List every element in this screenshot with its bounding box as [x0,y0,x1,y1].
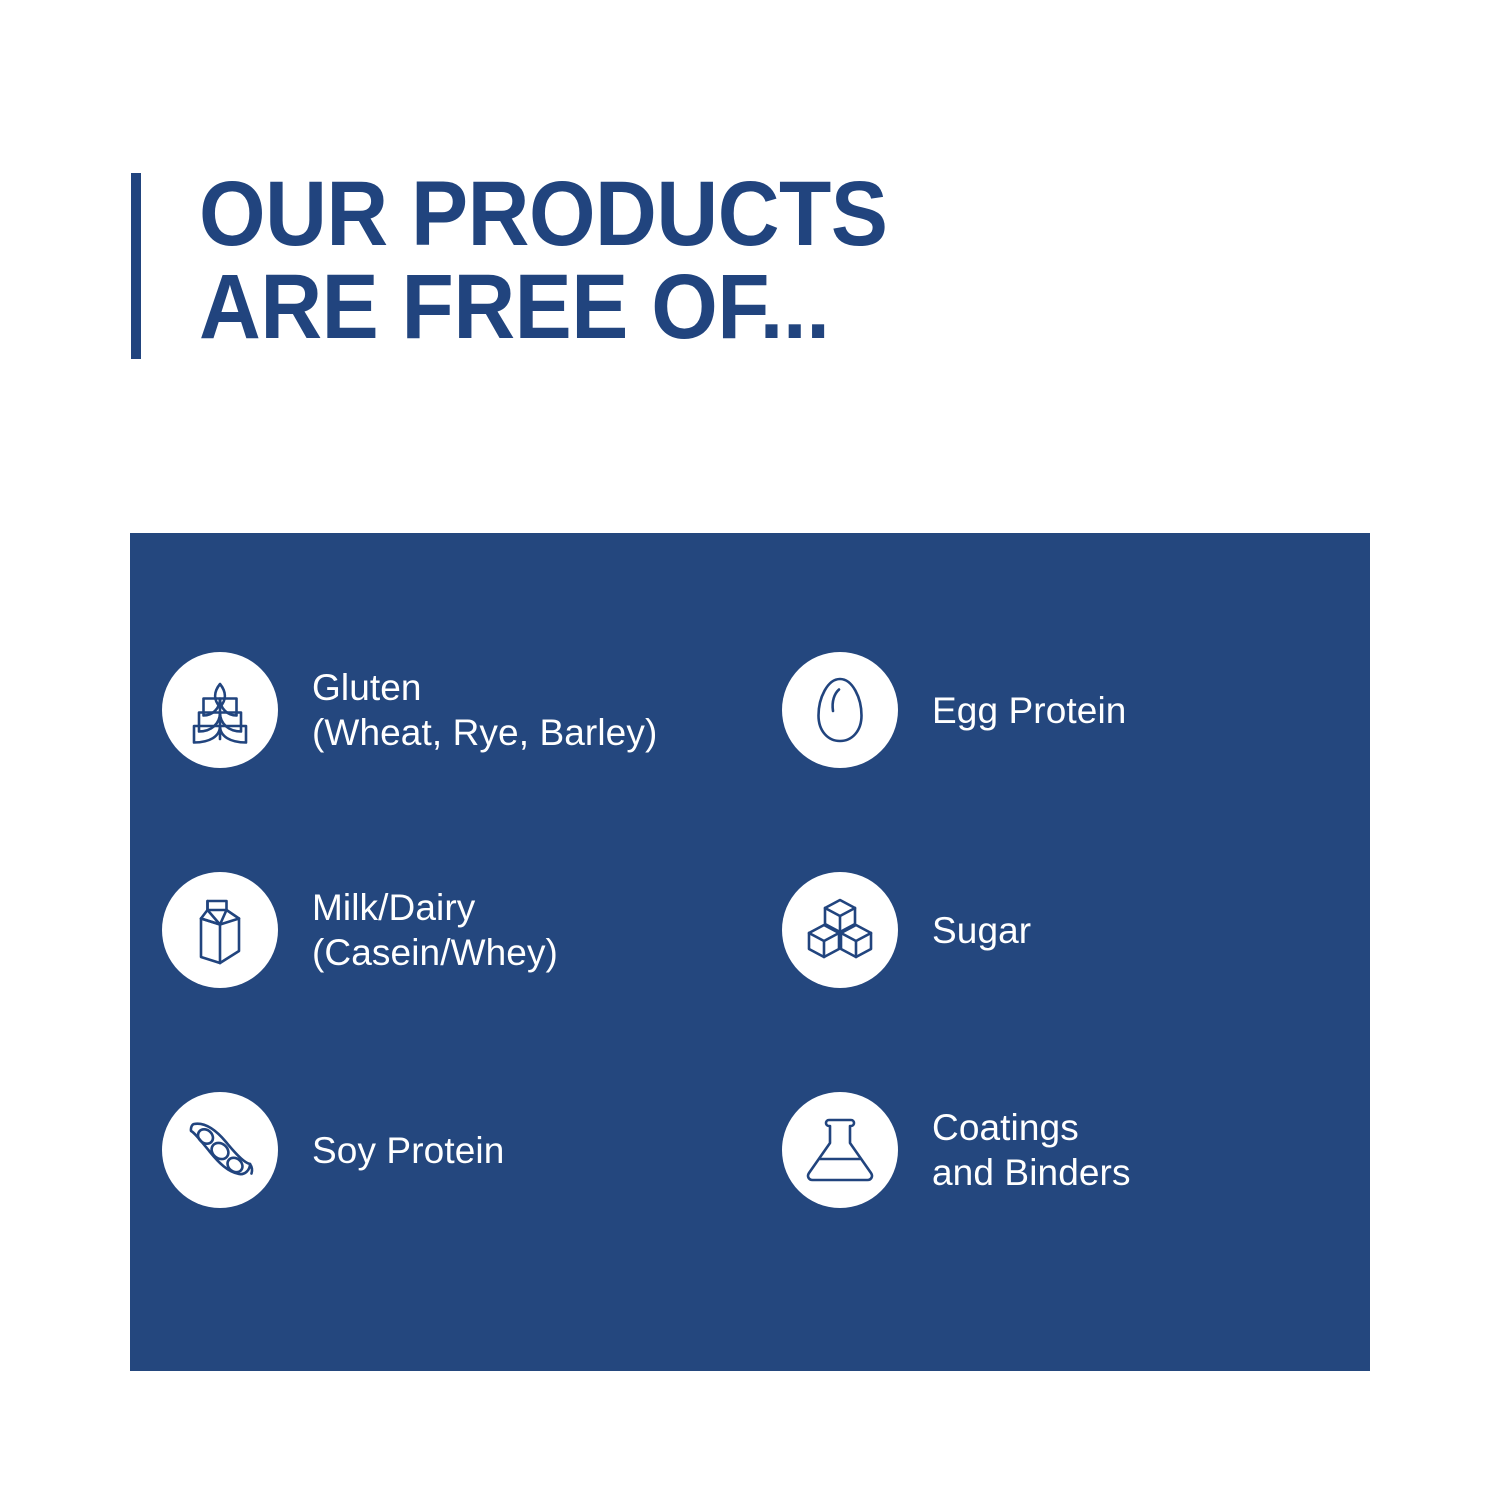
free-of-item-label: Gluten (Wheat, Rye, Barley) [312,665,657,755]
heading-text: OUR PRODUCTS ARE FREE OF... [199,168,887,354]
heading-line-1: OUR PRODUCTS [199,168,887,261]
free-of-item-label: Coatings and Binders [932,1105,1131,1195]
page-heading: OUR PRODUCTS ARE FREE OF... [131,168,939,359]
flask-icon [803,1113,877,1187]
icon-badge [162,652,278,768]
free-of-panel: Gluten (Wheat, Rye, Barley) Egg Protein [130,533,1370,1371]
free-of-item-coatings-and-binders: Coatings and Binders [782,1040,1342,1260]
heading-accent-bar [131,173,141,359]
soy-bean-icon [183,1113,257,1187]
icon-badge [162,872,278,988]
free-of-item-label: Milk/Dairy (Casein/Whey) [312,885,558,975]
icon-badge [782,652,898,768]
free-of-item-gluten: Gluten (Wheat, Rye, Barley) [162,600,782,820]
sugar-cubes-icon [803,893,877,967]
free-of-item-soy-protein: Soy Protein [162,1040,782,1260]
wheat-icon [183,673,257,747]
free-of-item-milk-dairy: Milk/Dairy (Casein/Whey) [162,820,782,1040]
free-of-item-egg-protein: Egg Protein [782,600,1342,820]
free-of-item-label: Egg Protein [932,688,1126,733]
milk-carton-icon [183,893,257,967]
free-of-item-label: Sugar [932,908,1031,953]
icon-badge [782,1092,898,1208]
heading-line-2: ARE FREE OF... [199,261,887,354]
free-of-item-sugar: Sugar [782,820,1342,1040]
free-of-item-label: Soy Protein [312,1128,504,1173]
icon-badge [162,1092,278,1208]
icon-badge [782,872,898,988]
free-of-grid: Gluten (Wheat, Rye, Barley) Egg Protein [162,600,1342,1260]
egg-icon [803,673,877,747]
